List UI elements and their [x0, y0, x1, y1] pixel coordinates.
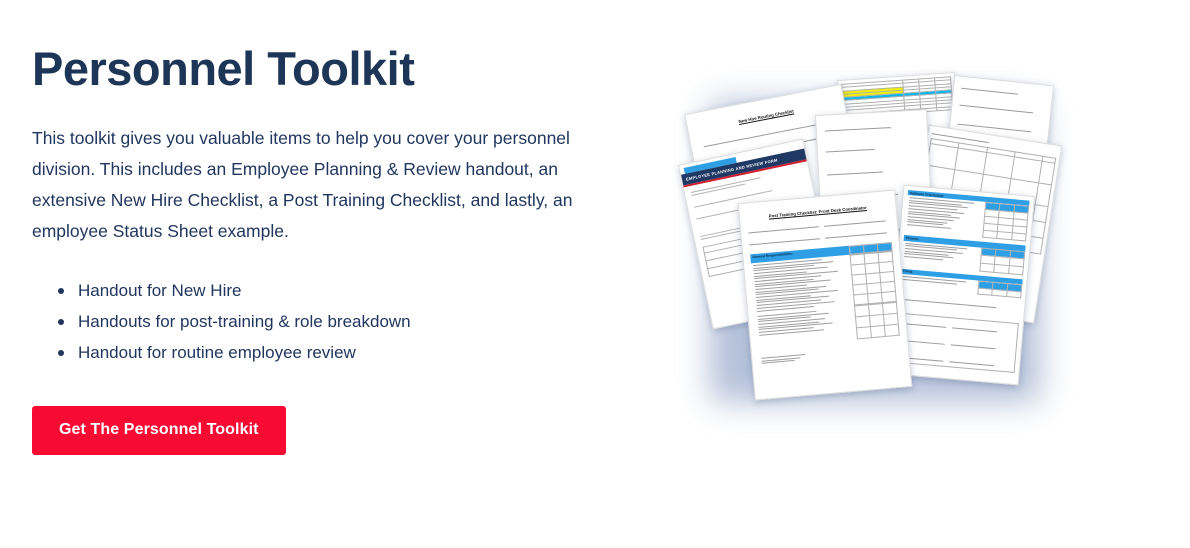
list-item: Handouts for post-training & role breakd…: [32, 306, 592, 337]
list-item: Handout for routine employee review: [32, 337, 592, 368]
benefit-list: Handout for New Hire Handouts for post-t…: [32, 275, 592, 368]
bullet-icon: [58, 288, 64, 294]
hero-section: Personnel Toolkit This toolkit gives you…: [0, 0, 1190, 548]
hero-content: Personnel Toolkit This toolkit gives you…: [32, 44, 592, 455]
document-collage-image: New Hire Routing Checklist: [688, 72, 1088, 432]
intro-paragraph: This toolkit gives you valuable items to…: [32, 123, 577, 247]
list-item-label: Handouts for post-training & role breakd…: [78, 312, 411, 331]
page-title: Personnel Toolkit: [32, 44, 592, 95]
doc-post-training-checklist: Post Training Checklist: Front Desk Coor…: [738, 189, 913, 400]
bullet-icon: [58, 350, 64, 356]
list-item-label: Handout for routine employee review: [78, 343, 356, 362]
get-personnel-toolkit-button[interactable]: Get The Personnel Toolkit: [32, 406, 286, 455]
list-item-label: Handout for New Hire: [78, 281, 241, 300]
bullet-icon: [58, 319, 64, 325]
list-item: Handout for New Hire: [32, 275, 592, 306]
